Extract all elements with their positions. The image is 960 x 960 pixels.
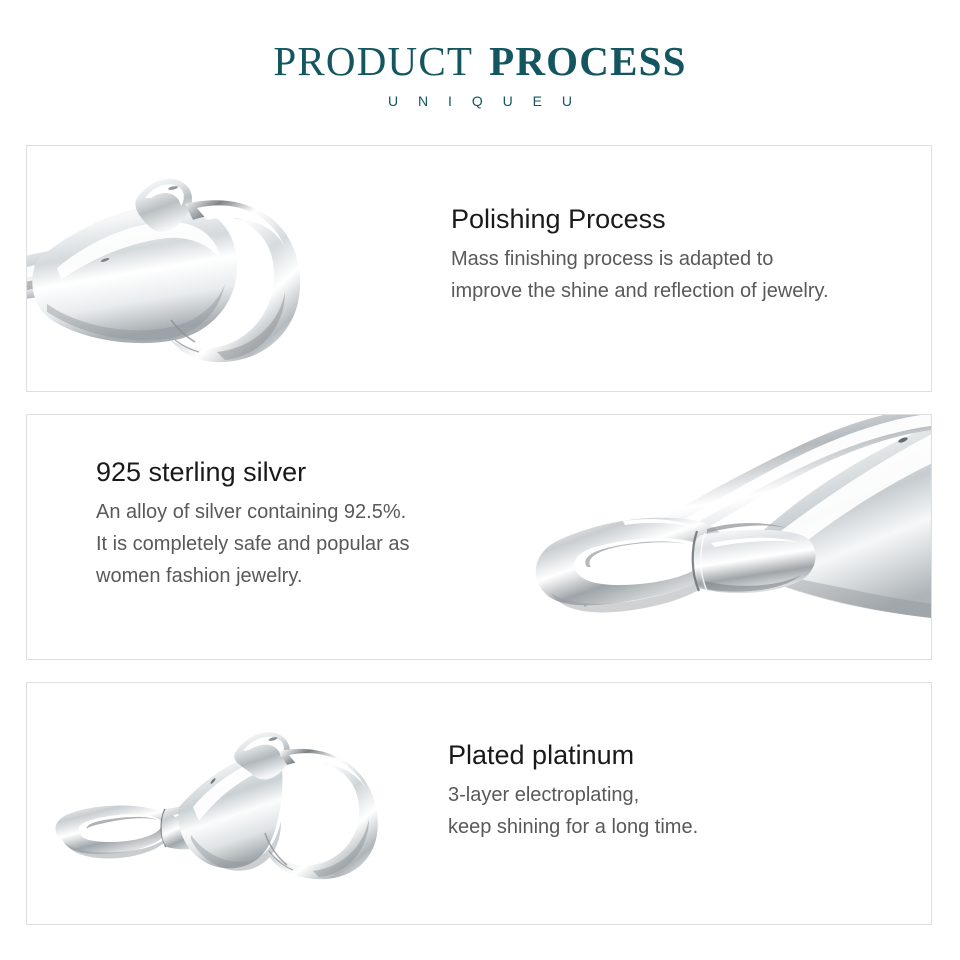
- panel-3-body-line: 3-layer electroplating,: [448, 779, 698, 811]
- page-title: PRODUCTPROCESS: [0, 38, 960, 84]
- panel-2-text: 925 sterling silver An alloy of silver c…: [96, 455, 410, 592]
- feature-panel-plated-platinum: Plated platinum 3-layer electroplating, …: [26, 682, 932, 925]
- panel-1-body-line: improve the shine and reflection of jewe…: [451, 275, 829, 307]
- panel-2-body-line: An alloy of silver containing 92.5%.: [96, 496, 410, 528]
- lobster-clasp-gate-closeup-photo: [511, 414, 932, 660]
- panel-2-heading: 925 sterling silver: [96, 455, 410, 489]
- page-header: PRODUCTPROCESS U N I Q U E U: [0, 0, 960, 140]
- page-title-part1: PRODUCT: [273, 38, 473, 84]
- panel-1-text: Polishing Process Mass finishing process…: [451, 202, 829, 307]
- panel-3-body-line: keep shining for a long time.: [448, 811, 698, 843]
- page-subtitle: U N I Q U E U: [0, 92, 960, 110]
- panel-1-heading: Polishing Process: [451, 202, 829, 236]
- feature-panel-polishing: Polishing Process Mass finishing process…: [26, 145, 932, 392]
- panel-3-heading: Plated platinum: [448, 738, 698, 772]
- lobster-clasp-full-photo: [33, 723, 393, 888]
- lobster-clasp-closeup-photo: [26, 164, 335, 379]
- feature-panel-sterling-silver: 925 sterling silver An alloy of silver c…: [26, 414, 932, 660]
- panel-3-text: Plated platinum 3-layer electroplating, …: [448, 738, 698, 843]
- page-title-part2: PROCESS: [489, 38, 687, 84]
- panel-2-body-line: It is completely safe and popular as: [96, 528, 410, 560]
- panel-2-body-line: women fashion jewelry.: [96, 560, 410, 592]
- panel-1-body-line: Mass finishing process is adapted to: [451, 243, 829, 275]
